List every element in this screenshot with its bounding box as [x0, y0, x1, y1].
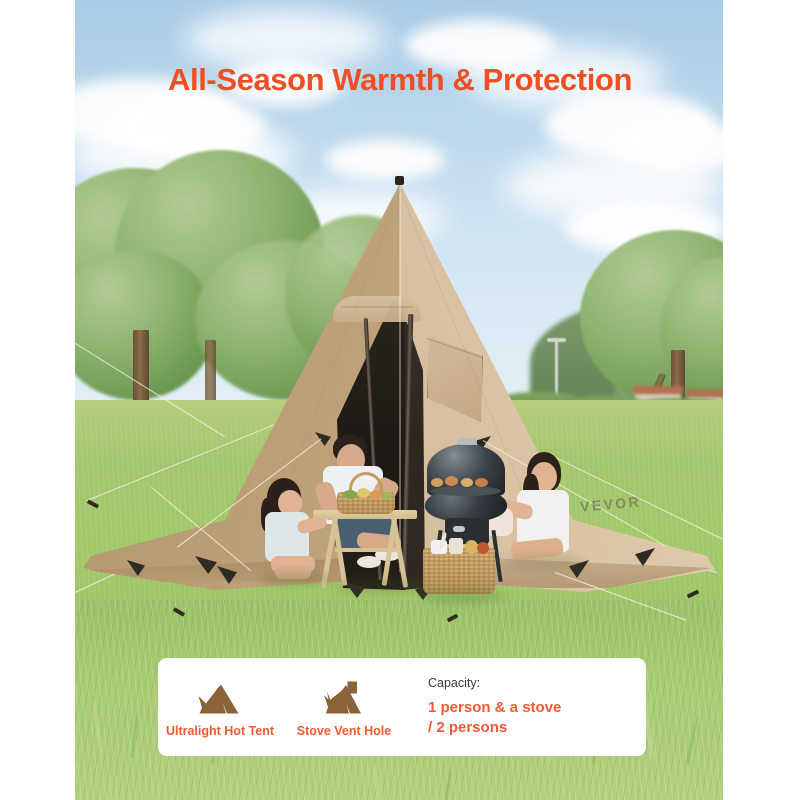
man-sandal [357, 556, 381, 568]
tent-stake [87, 499, 99, 508]
food-item [475, 478, 488, 487]
brand-logo: VEVOR [579, 493, 641, 514]
feature-ultralight-hot-tent: Ultralight Hot Tent [158, 658, 282, 756]
food-item [381, 492, 392, 500]
feature-label: Stove Vent Hole [297, 724, 391, 738]
tent-icon [197, 681, 243, 715]
capacity-title: Capacity: [428, 676, 480, 690]
basket-content [449, 538, 463, 554]
ground-shadow [335, 578, 425, 594]
food-item [431, 478, 443, 487]
basket-content [477, 542, 489, 554]
food-item [343, 490, 357, 499]
grill-handle [457, 438, 477, 445]
food-item [461, 478, 473, 487]
product-banner: VEVOR [0, 0, 800, 800]
ground-shadow [505, 556, 585, 570]
food-item [357, 488, 370, 498]
capacity-value: 1 person & a stove / 2 persons [428, 698, 561, 738]
grill-grate [431, 486, 501, 496]
tent-seam [341, 306, 413, 308]
ground-shadow [261, 572, 331, 586]
tent-apex-cap [395, 176, 404, 185]
page-title: All-Season Warmth & Protection [0, 62, 800, 98]
grill-knob [453, 526, 465, 532]
feature-card: Ultralight Hot Tent Stove Vent Hole Capa… [158, 658, 646, 756]
table-crossbar [335, 548, 397, 552]
guy-line [75, 330, 225, 437]
capacity-block: Capacity: 1 person & a stove / 2 persons [406, 658, 646, 756]
feature-stove-vent-hole: Stove Vent Hole [282, 658, 406, 756]
tent-stake [447, 614, 459, 623]
stove-vent-tent-icon [323, 681, 365, 715]
feature-label: Ultralight Hot Tent [166, 724, 274, 738]
food-item [445, 476, 458, 486]
tent-stake [687, 590, 700, 599]
ground-shadow [419, 588, 505, 604]
tent-stake [173, 607, 185, 616]
